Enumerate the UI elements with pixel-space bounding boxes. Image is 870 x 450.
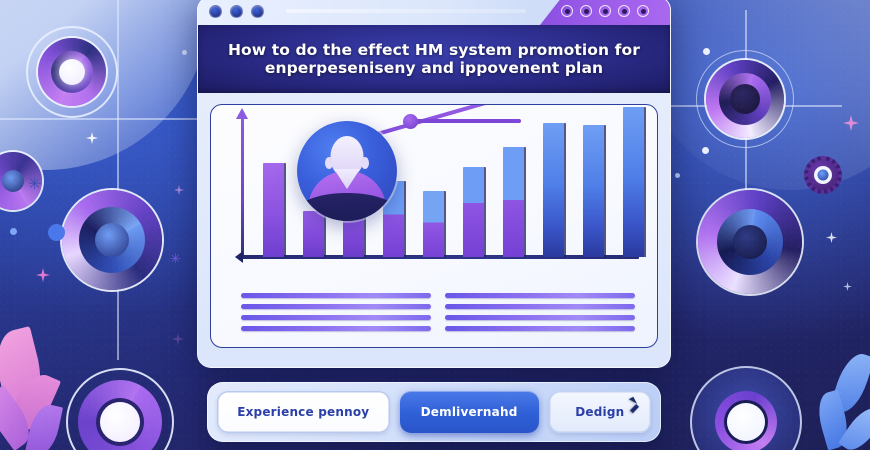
dial-core xyxy=(730,84,760,114)
gear-core xyxy=(818,170,829,181)
decor-dot xyxy=(10,228,17,235)
sparkle-icon xyxy=(843,282,852,291)
sparkle-icon xyxy=(36,268,50,282)
decor-dot xyxy=(182,50,187,55)
headline-banner: How to do the effect HM system promotion… xyxy=(198,25,670,93)
screenshot-canvas: ✳ ✳ ✳ How to do the effect xyxy=(0,0,870,450)
window-dot-2[interactable] xyxy=(230,5,243,18)
gear-icon xyxy=(804,156,842,194)
chart-y-axis xyxy=(241,117,244,257)
titlebar-toolbar xyxy=(540,0,670,25)
decor-dot xyxy=(675,173,680,178)
toolbar-circle-2[interactable] xyxy=(580,5,592,17)
chart-bar xyxy=(503,147,524,257)
placeholder-line xyxy=(241,293,431,298)
placeholder-line xyxy=(445,304,635,309)
action-button-bar: Experience pennoy Demlivernahd Dedign xyxy=(207,382,661,442)
demand-button[interactable]: Demlivernahd xyxy=(400,391,539,433)
toolbar-circle-1[interactable] xyxy=(561,5,573,17)
decor-dot xyxy=(48,224,65,241)
design-button[interactable]: Dedign xyxy=(549,391,651,433)
dial-core xyxy=(2,170,24,192)
sparkle-icon xyxy=(174,185,184,195)
placeholder-line xyxy=(445,293,635,298)
decor-asterisk: ✳ xyxy=(28,176,41,192)
decor-dot xyxy=(702,147,709,154)
placeholder-line xyxy=(445,326,635,331)
avatar xyxy=(297,121,397,221)
placeholder-column-right xyxy=(445,293,635,331)
bar-chart xyxy=(211,105,657,277)
experience-button[interactable]: Experience pennoy xyxy=(217,391,390,433)
avatar-ear-right xyxy=(361,157,369,169)
window-dot-3[interactable] xyxy=(251,5,264,18)
dial-mid-right xyxy=(698,190,802,294)
dial-core xyxy=(727,403,765,441)
sparkle-icon xyxy=(826,232,837,243)
avatar-ear-left xyxy=(325,157,333,169)
dial-bottom-right xyxy=(690,366,802,450)
dial-core xyxy=(100,402,140,442)
placeholder-text-block xyxy=(241,293,635,331)
chart-card xyxy=(210,104,658,348)
dial-core xyxy=(95,223,129,257)
trend-baseline xyxy=(411,119,521,123)
decor-dot xyxy=(703,48,710,55)
browser-window: How to do the effect HM system promotion… xyxy=(197,0,671,368)
chart-bar xyxy=(463,167,484,257)
dial-top-right xyxy=(696,50,794,148)
toolbar-circle-5[interactable] xyxy=(637,5,649,17)
trend-endpoint-dot xyxy=(403,114,418,129)
dial-core xyxy=(733,225,767,259)
chart-bar xyxy=(543,123,564,257)
sparkle-icon xyxy=(172,333,184,345)
chart-bar xyxy=(583,125,604,257)
dial-core xyxy=(59,59,85,85)
placeholder-line xyxy=(241,304,431,309)
dial-bottom-left xyxy=(66,368,174,450)
page-title: How to do the effect HM system promotion… xyxy=(214,41,654,78)
toolbar-circle-4[interactable] xyxy=(618,5,630,17)
placeholder-line xyxy=(241,315,431,320)
address-bar[interactable] xyxy=(286,9,526,13)
window-dot-1[interactable] xyxy=(209,5,222,18)
decor-asterisk: ✳ xyxy=(170,253,181,266)
placeholder-line xyxy=(241,326,431,331)
dial-top-left xyxy=(26,26,118,118)
chart-bar xyxy=(263,163,284,257)
crosshair-horizontal-left xyxy=(0,118,200,120)
window-titlebar xyxy=(198,0,670,25)
crosshair-vertical-left xyxy=(117,0,119,360)
placeholder-line xyxy=(445,315,635,320)
toolbar-circle-3[interactable] xyxy=(599,5,611,17)
chart-bar xyxy=(423,191,444,257)
chart-bar xyxy=(623,107,644,257)
dial-center-left xyxy=(62,190,162,290)
placeholder-column-left xyxy=(241,293,431,331)
